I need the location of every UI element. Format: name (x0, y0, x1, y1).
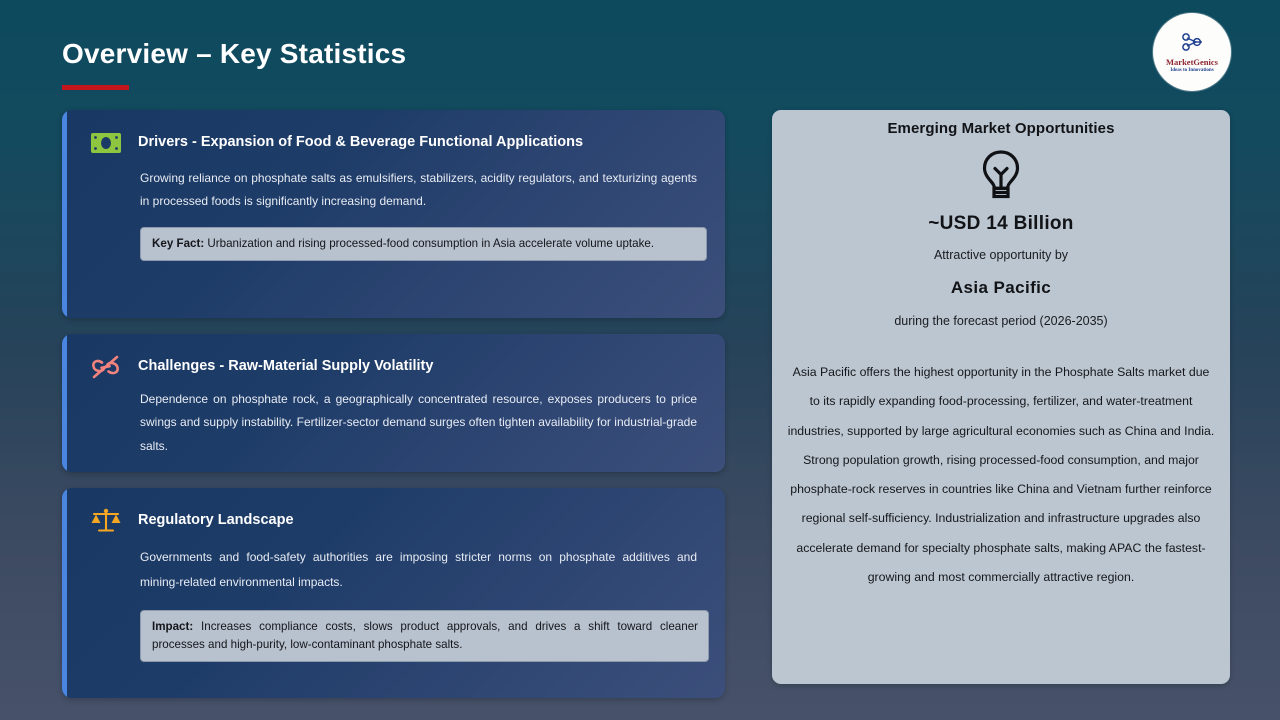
light-bulb-icon (772, 149, 1230, 201)
card-challenges: Challenges - Raw-Material Supply Volatil… (62, 334, 725, 472)
title-underline-accent (62, 85, 129, 90)
key-fact-label: Key Fact: (152, 237, 204, 250)
key-fact-callout: Key Fact: Urbanization and rising proces… (140, 227, 707, 262)
card-drivers: Drivers - Expansion of Food & Beverage F… (62, 110, 725, 318)
card-title: Regulatory Landscape (138, 502, 294, 529)
impact-text: Increases compliance costs, slows produc… (152, 620, 698, 651)
brand-logo: MarketGenics Ideas to Innovations (1153, 13, 1231, 91)
emerging-market-opportunities-panel: Emerging Market Opportunities ~USD 14 Bi… (772, 110, 1230, 684)
card-title: Drivers - Expansion of Food & Beverage F… (138, 124, 583, 151)
card-body-text: Dependence on phosphate rock, a geograph… (62, 386, 725, 458)
logo-name: MarketGenics (1166, 58, 1218, 67)
forecast-period: during the forecast period (2026-2035) (772, 314, 1230, 328)
card-regulatory-landscape: Regulatory Landscape Governments and foo… (62, 488, 725, 698)
key-fact-text: Urbanization and rising processed-food c… (204, 237, 654, 250)
card-title: Challenges - Raw-Material Supply Volatil… (138, 348, 433, 375)
money-banknote-icon (86, 124, 126, 162)
opportunity-subtitle: Attractive opportunity by (772, 248, 1230, 262)
card-header: Challenges - Raw-Material Supply Volatil… (62, 334, 725, 386)
leading-region: Asia Pacific (772, 278, 1230, 298)
panel-title: Emerging Market Opportunities (772, 120, 1230, 137)
market-value: ~USD 14 Billion (772, 213, 1230, 235)
page-title: Overview – Key Statistics (62, 38, 406, 70)
broken-link-icon (86, 348, 126, 386)
molecule-network-icon (1179, 32, 1205, 57)
card-body-text: Growing reliance on phosphate salts as e… (62, 162, 725, 214)
card-body-text: Governments and food-safety authorities … (62, 540, 725, 594)
panel-description: Asia Pacific offers the highest opportun… (786, 358, 1216, 592)
card-header: Drivers - Expansion of Food & Beverage F… (62, 110, 725, 162)
card-header: Regulatory Landscape (62, 488, 725, 540)
impact-callout: Impact: Increases compliance costs, slow… (140, 610, 709, 662)
balance-scale-icon (86, 502, 126, 540)
impact-label: Impact: (152, 620, 193, 633)
logo-tagline: Ideas to Innovations (1170, 68, 1213, 73)
statistics-card-list: Drivers - Expansion of Food & Beverage F… (62, 110, 725, 698)
